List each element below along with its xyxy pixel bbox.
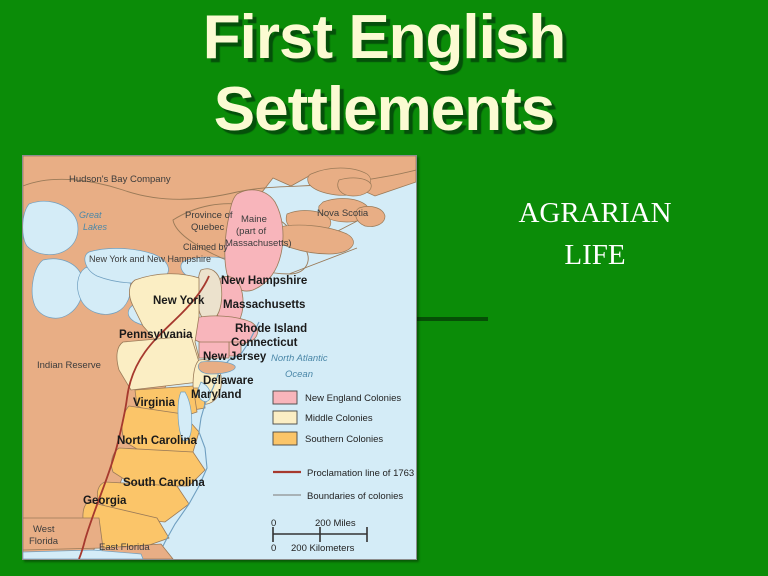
legend-label-proclamation: Proclamation line of 1763 bbox=[307, 468, 414, 479]
title-line-2: Settlements bbox=[0, 74, 768, 146]
label-massachusetts: Massachusetts bbox=[223, 299, 305, 311]
subtitle-agrarian-life: AGRARIAN LIFE bbox=[430, 192, 760, 276]
legend-scale-miles-end: 200 Miles bbox=[315, 518, 356, 529]
legend-label-new-england: New England Colonies bbox=[305, 393, 401, 404]
region-pennsylvania bbox=[117, 336, 199, 390]
label-north-atlantic-2: Ocean bbox=[285, 369, 313, 380]
label-indian-reserve: Indian Reserve bbox=[37, 360, 101, 371]
subtitle-line-2: LIFE bbox=[430, 234, 760, 276]
label-maine-3: Massachusetts) bbox=[225, 238, 292, 249]
label-south-carolina: South Carolina bbox=[123, 477, 205, 489]
label-maine-1: Maine bbox=[241, 214, 267, 225]
subtitle-line-1: AGRARIAN bbox=[430, 192, 760, 234]
label-nova-scotia: Nova Scotia bbox=[317, 208, 369, 219]
label-east-florida: East Florida bbox=[99, 542, 150, 553]
title-line-1: First English bbox=[0, 2, 768, 74]
label-maine-2: (part of bbox=[236, 226, 266, 237]
legend-swatch-middle bbox=[273, 411, 297, 424]
label-province-of-quebec-1: Province of bbox=[185, 210, 233, 221]
label-pennsylvania: Pennsylvania bbox=[119, 329, 193, 341]
label-province-of-quebec-2: Quebec bbox=[191, 222, 225, 233]
label-hudsons-bay-company: Hudson's Bay Company bbox=[69, 174, 171, 185]
legend-scale-miles-start: 0 bbox=[271, 518, 276, 529]
label-maryland: Maryland bbox=[191, 389, 242, 401]
map-graphic: Hudson's Bay Company Great Lakes Provinc… bbox=[23, 156, 416, 559]
page-title: First English Settlements bbox=[0, 2, 768, 146]
label-new-jersey: New Jersey bbox=[203, 351, 267, 363]
label-rhode-island: Rhode Island bbox=[235, 323, 307, 335]
label-north-atlantic-1: North Atlantic bbox=[271, 353, 328, 364]
legend-label-boundaries: Boundaries of colonies bbox=[307, 491, 403, 502]
decorative-divider bbox=[405, 317, 488, 321]
label-claimed-by-1: Claimed by bbox=[183, 242, 229, 252]
map-thirteen-colonies-1763: Hudson's Bay Company Great Lakes Provinc… bbox=[22, 155, 417, 560]
legend-label-middle: Middle Colonies bbox=[305, 413, 373, 424]
label-great-lakes-2: Lakes bbox=[83, 222, 108, 232]
legend-swatch-southern bbox=[273, 432, 297, 445]
label-georgia: Georgia bbox=[83, 495, 127, 507]
label-west-florida-1: West bbox=[33, 524, 55, 535]
label-north-carolina: North Carolina bbox=[117, 435, 197, 447]
legend-scale-km-start: 0 bbox=[271, 543, 276, 554]
label-new-hampshire: New Hampshire bbox=[221, 275, 307, 287]
label-virginia: Virginia bbox=[133, 397, 176, 409]
label-claimed-by-2: New York and New Hampshire bbox=[89, 254, 211, 264]
legend-swatch-new-england bbox=[273, 391, 297, 404]
label-west-florida-2: Florida bbox=[29, 536, 59, 547]
label-great-lakes-1: Great bbox=[79, 210, 102, 220]
legend-label-southern: Southern Colonies bbox=[305, 434, 383, 445]
legend-scale-km-end: 200 Kilometers bbox=[291, 543, 355, 554]
label-delaware: Delaware bbox=[203, 375, 254, 387]
label-new-york: New York bbox=[153, 295, 205, 307]
slide-canvas: First English Settlements AGRARIAN LIFE bbox=[0, 0, 768, 576]
label-connecticut: Connecticut bbox=[231, 337, 298, 349]
